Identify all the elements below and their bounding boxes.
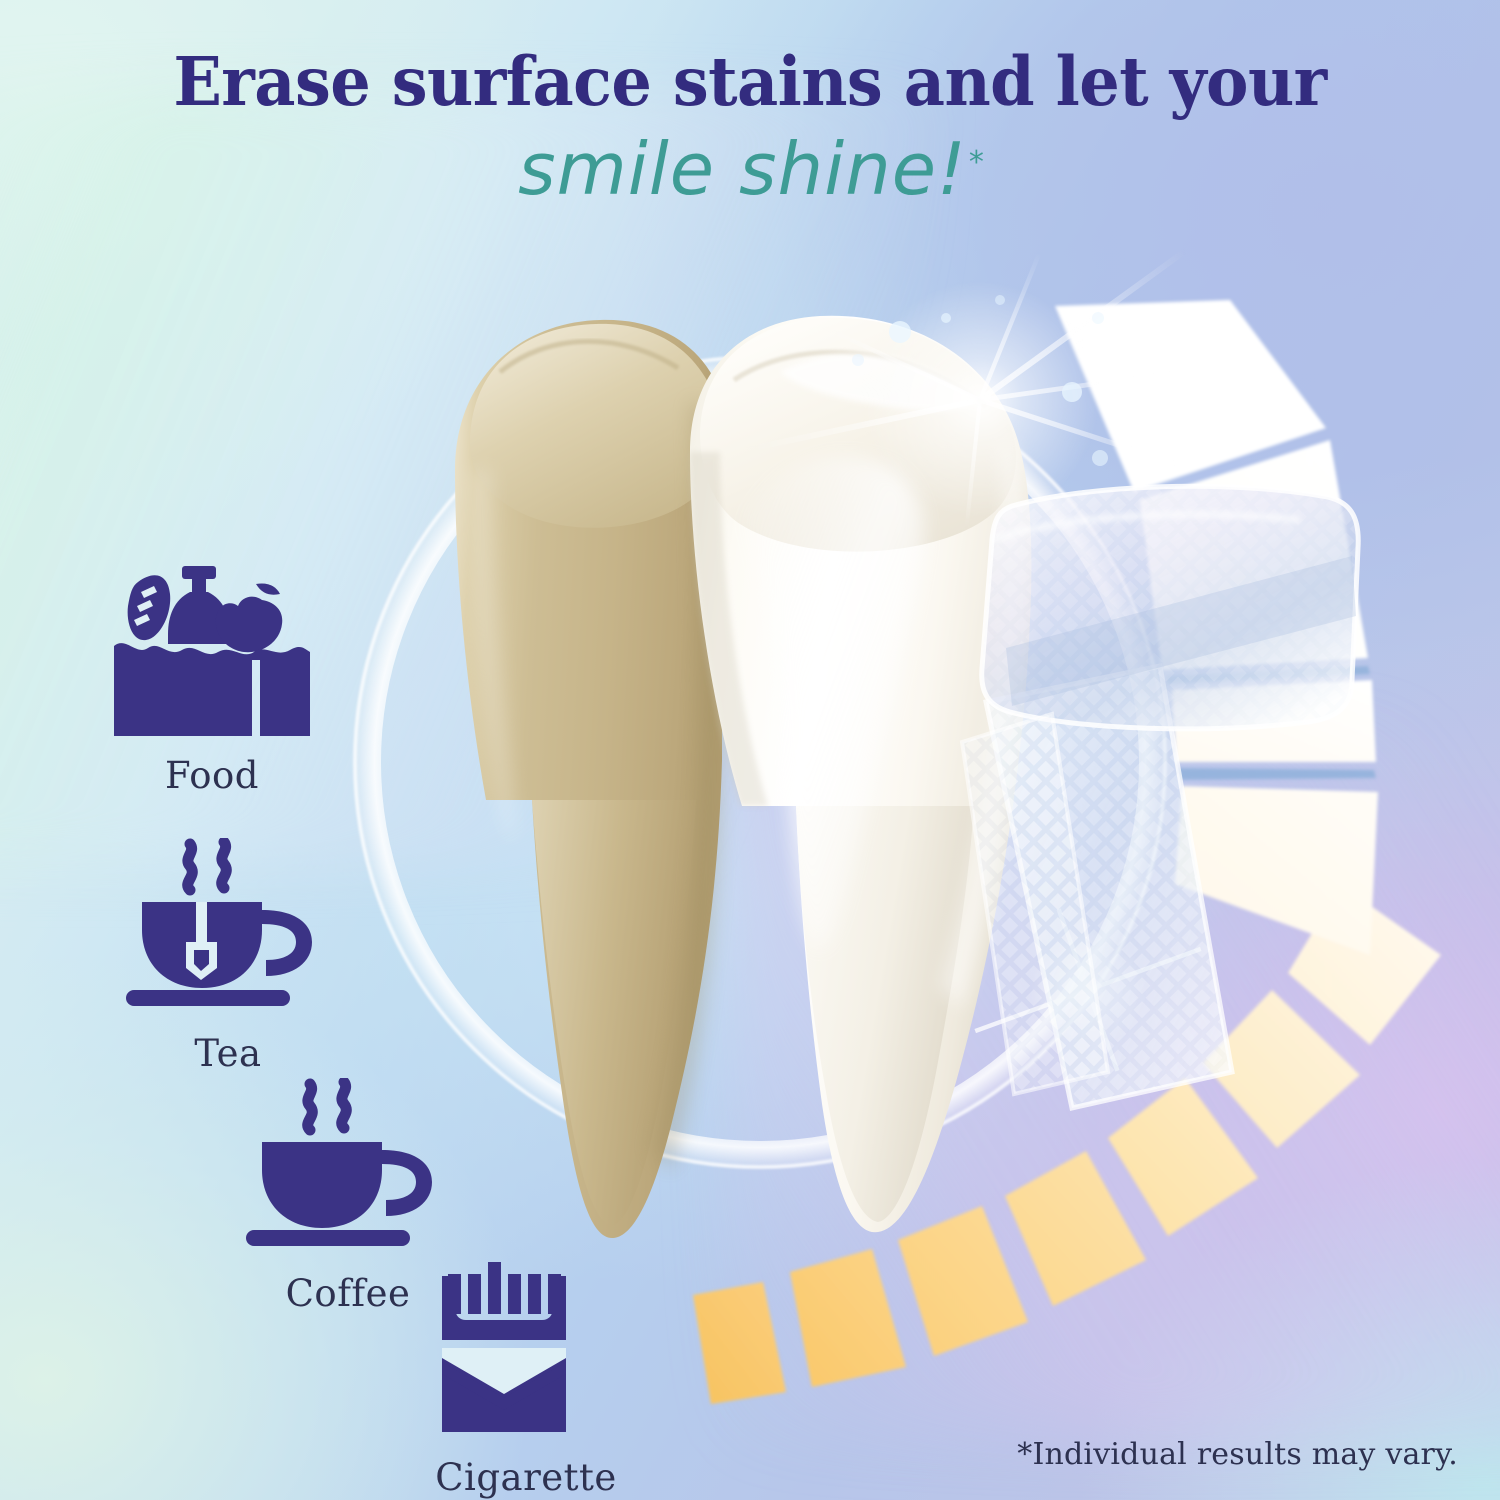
product-marketing-image: Erase surface stains and let your smile … bbox=[0, 0, 1500, 1500]
stain-source-cigarette: Cigarette bbox=[418, 1262, 634, 1499]
cigarette-pack-icon bbox=[418, 1262, 634, 1442]
stain-source-food: Food bbox=[104, 560, 320, 797]
footnote-disclaimer: *Individual results may vary. bbox=[1017, 1437, 1458, 1472]
stain-source-tea: Tea bbox=[120, 838, 336, 1075]
stain-source-label-tea: Tea bbox=[120, 1032, 336, 1075]
coffee-cup-icon bbox=[240, 1078, 456, 1258]
grocery-bag-icon bbox=[104, 560, 320, 740]
stain-source-label-food: Food bbox=[104, 754, 320, 797]
stain-source-label-cigarette: Cigarette bbox=[418, 1456, 634, 1499]
teacup-icon bbox=[120, 838, 336, 1018]
whitening-strip bbox=[962, 486, 1358, 1108]
